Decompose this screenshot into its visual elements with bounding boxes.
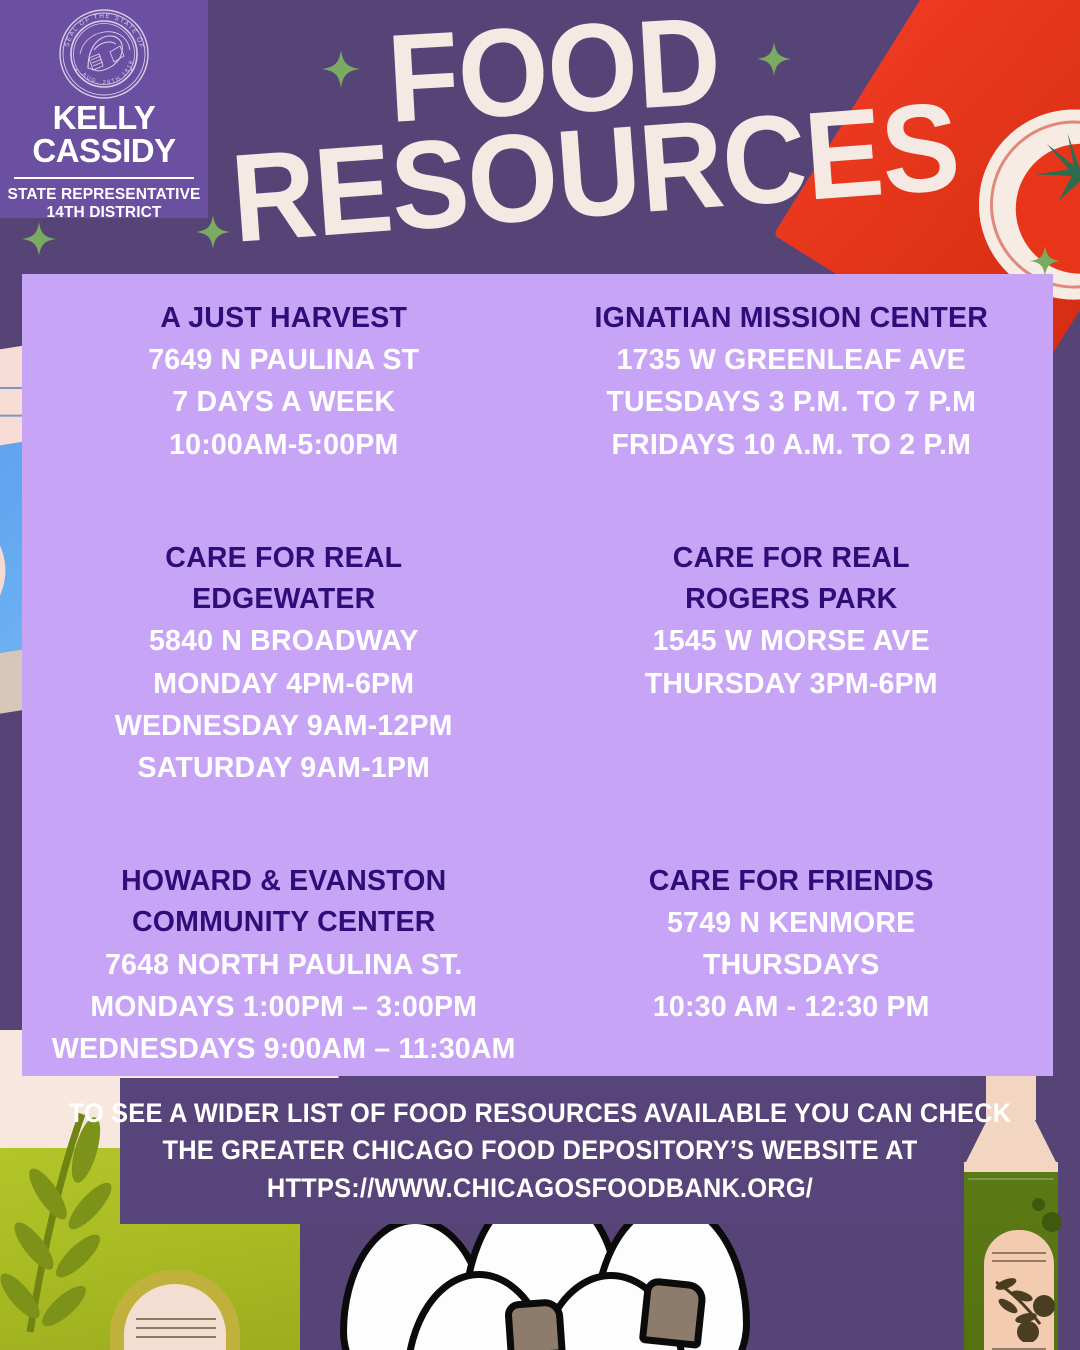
spacer	[36, 492, 532, 538]
listing-detail: 10:30 AM - 12:30 PM	[544, 986, 1040, 1028]
svg-text:AUG. 26TH 1818: AUG. 26TH 1818	[81, 59, 136, 86]
listing-detail: MONDAY 4PM-6PM	[36, 663, 532, 705]
listing-detail: 1545 W MORSE AVE	[544, 620, 1040, 662]
left-column: A JUST HARVEST 7649 N PAULINA ST 7 DAYS …	[22, 274, 538, 1076]
listing-detail: 7 DAYS A WEEK	[36, 381, 532, 423]
right-column: IGNATIAN MISSION CENTER 1735 W GREENLEAF…	[538, 274, 1054, 1076]
listing-detail: 10:00AM-5:00PM	[36, 424, 532, 466]
listing-detail: MONDAYS 1:00PM – 3:00PM	[36, 986, 532, 1028]
bag-label-lines	[136, 1318, 216, 1350]
banner-line-1: TO SEE A WIDER LIST OF FOOD RESOURCES AV…	[69, 1095, 1012, 1133]
logo-name-line-1: KELLY	[0, 102, 208, 133]
poster-canvas: FOOD RESOURCES SEAL OF THE STATE OF ILLI…	[0, 0, 1080, 1350]
listing-detail: FRIDAYS 10 A.M. TO 2 P.M	[544, 424, 1040, 466]
logo-subtitle-line-2: 14TH DISTRICT	[0, 204, 208, 222]
eggs-illustration	[330, 1205, 750, 1350]
listing-detail: WEDNESDAY 9AM-12PM	[36, 705, 532, 747]
listing-name-line-2: ROGERS PARK	[544, 579, 1040, 620]
listing-ignatian-mission-center: IGNATIAN MISSION CENTER 1735 W GREENLEAF…	[544, 298, 1040, 466]
four-point-sparkle-icon	[322, 50, 360, 88]
listing-care-for-friends: CARE FOR FRIENDS 5749 N KENMORE THURSDAY…	[544, 861, 1040, 1029]
listing-detail: 1735 W GREENLEAF AVE	[544, 339, 1040, 381]
svg-text:SEAL OF THE STATE OF ILLINOIS: SEAL OF THE STATE OF ILLINOIS	[58, 8, 145, 53]
logo-subtitle-line-1: STATE REPRESENTATIVE	[0, 186, 208, 204]
listing-name: CARE FOR FRIENDS	[544, 861, 1040, 902]
banner-url[interactable]: HTTPS://WWW.CHICAGOSFOODBANK.ORG/	[69, 1170, 1012, 1208]
listing-detail: SATURDAY 9AM-1PM	[36, 747, 532, 789]
egg-spot	[504, 1298, 566, 1350]
spacer	[544, 731, 1040, 861]
listing-name-line-1: CARE FOR REAL	[544, 538, 1040, 579]
listing-detail: THURSDAYS	[544, 944, 1040, 986]
spacer	[544, 492, 1040, 538]
footer-banner: TO SEE A WIDER LIST OF FOOD RESOURCES AV…	[120, 1078, 960, 1224]
listing-name-line-2: EDGEWATER	[36, 579, 532, 620]
egg-spot	[639, 1277, 708, 1349]
listing-detail: THURSDAY 3PM-6PM	[544, 663, 1040, 705]
listing-detail: 5840 N BROADWAY	[36, 620, 532, 662]
banner-line-2: THE GREATER CHICAGO FOOD DEPOSITORY’S WE…	[69, 1132, 1012, 1170]
listing-care-for-real-edgewater: CARE FOR REAL EDGEWATER 5840 N BROADWAY …	[36, 538, 532, 789]
listing-care-for-real-rogers-park: CARE FOR REAL ROGERS PARK 1545 W MORSE A…	[544, 538, 1040, 705]
listing-name: A JUST HARVEST	[36, 298, 532, 339]
listing-howard-evanston-community-center: HOWARD & EVANSTON COMMUNITY CENTER 7648 …	[36, 861, 532, 1070]
listing-detail: 7649 N PAULINA ST	[36, 339, 532, 381]
four-point-sparkle-icon	[757, 42, 791, 76]
listing-a-just-harvest: A JUST HARVEST 7649 N PAULINA ST 7 DAYS …	[36, 298, 532, 466]
listing-detail: 5749 N KENMORE	[544, 902, 1040, 944]
oil-bubble	[1042, 1212, 1062, 1232]
four-point-sparkle-icon	[1030, 246, 1060, 276]
illinois-state-seal-icon: SEAL OF THE STATE OF ILLINOIS AUG. 26TH …	[58, 8, 150, 100]
listing-detail: WEDNESDAYS 9:00AM – 11:30AM	[36, 1028, 532, 1070]
listing-detail: 7648 NORTH PAULINA ST.	[36, 944, 532, 986]
listing-name-line-1: CARE FOR REAL	[36, 538, 532, 579]
four-point-sparkle-icon	[22, 222, 56, 256]
listing-name-line-1: HOWARD & EVANSTON	[36, 861, 532, 902]
logo-name-line-2: CASSIDY	[0, 135, 208, 166]
olive-sprig-icon	[992, 1276, 1056, 1342]
listing-detail: TUESDAYS 3 P.M. TO 7 P.M	[544, 381, 1040, 423]
listing-name-line-2: COMMUNITY CENTER	[36, 902, 532, 943]
title-line-2: RESOURCES	[227, 75, 964, 271]
spacer	[36, 815, 532, 861]
logo-divider	[14, 177, 194, 179]
resources-panel: A JUST HARVEST 7649 N PAULINA ST 7 DAYS …	[22, 274, 1053, 1076]
listing-name: IGNATIAN MISSION CENTER	[544, 298, 1040, 339]
kelly-cassidy-logo: SEAL OF THE STATE OF ILLINOIS AUG. 26TH …	[0, 0, 208, 218]
